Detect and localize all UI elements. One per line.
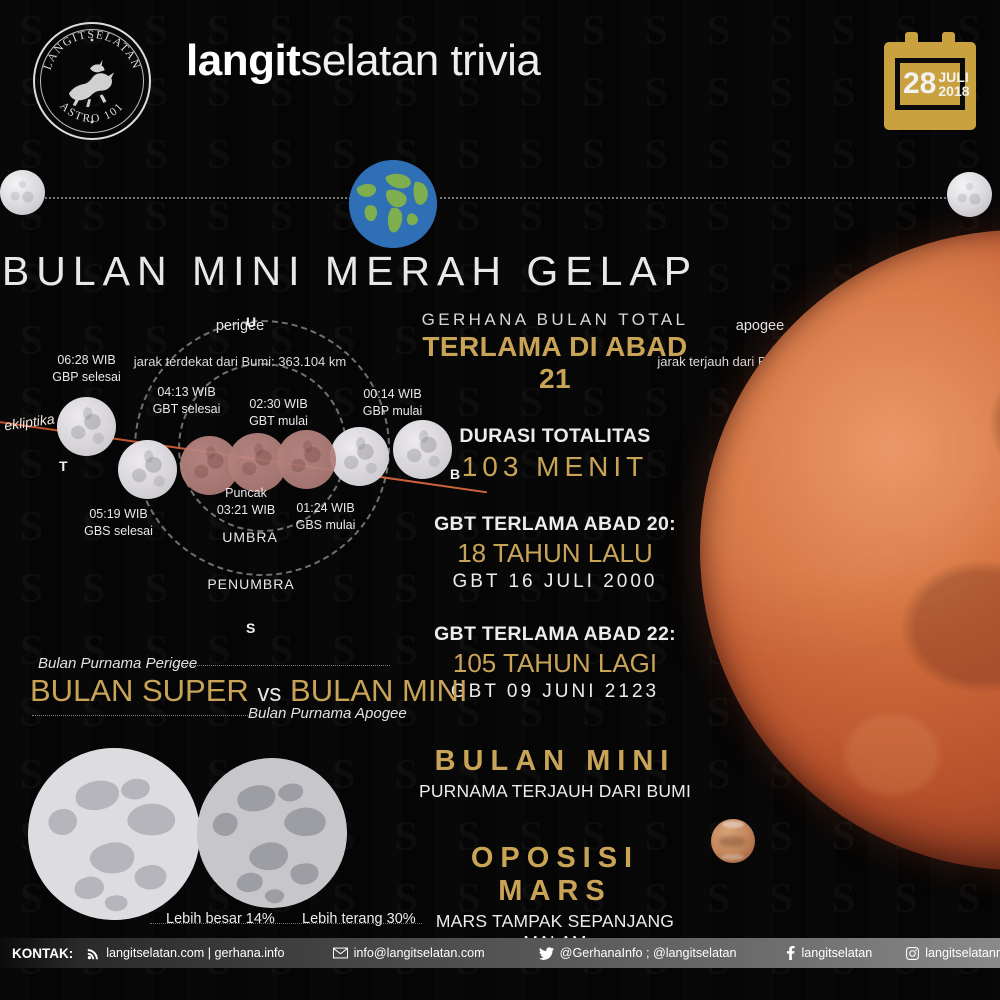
contact-instagram-text: langitselatanmedia (925, 946, 1000, 960)
oposisi-mars-title: OPOSISI MARS (410, 842, 700, 908)
caption-top-dotted-rule (172, 665, 390, 666)
mars-planet-photo (711, 819, 755, 863)
calendar-month-year: JULI 2018 (938, 70, 969, 99)
page-title: BULAN MINI MERAH GELAP (0, 248, 700, 295)
caption-bottom-dotted-rule (32, 715, 252, 716)
compass-marker-north: U (246, 314, 256, 330)
infographic-canvas: SSSSSSSSSSSSSSSSSSSSSSSSSSSSSSSSSSSSSSSS… (0, 0, 1000, 1000)
moon-icon-apogee (947, 172, 992, 217)
fact-duration-head: DURASI TOTALITAS (410, 425, 700, 448)
bulan-mini-sub: PURNAMA TERJAUH DARI BUMI (410, 781, 700, 802)
moon-phase-gbs-mulai (330, 427, 389, 486)
caption-perigee-fullmoon: Bulan Purnama Perigee (38, 655, 197, 672)
fact-century20-value: 18 TAHUN LALU (410, 538, 700, 569)
earth-globe-icon (349, 160, 437, 248)
contact-facebook[interactable]: langitselatan (786, 946, 872, 960)
fact-century20-head: GBT TERLAMA ABAD 20: (410, 513, 700, 536)
brand-trivia: trivia (439, 36, 541, 85)
compass-marker-south: S (246, 620, 255, 636)
contact-email[interactable]: info@langitselatan.com (333, 946, 485, 960)
rss-icon (87, 947, 100, 960)
contact-email-text: info@langitselatan.com (354, 946, 485, 960)
contact-footer-bar: KONTAK: langitselatan.com | gerhana.info… (0, 938, 1000, 968)
compare-title-vs: vs (257, 680, 281, 707)
fact-block-oposisi-mars: OPOSISI MARS MARS TAMPAK SEPANJANG MALAM (410, 842, 700, 953)
contact-twitter-text: @GerhanaInfo ; @langitselatan (560, 946, 737, 960)
contact-instagram[interactable]: langitselatanmedia (906, 946, 1000, 960)
caption-apogee-fullmoon: Bulan Purnama Apogee (248, 705, 407, 722)
fact-block-century20: GBT TERLAMA ABAD 20: 18 TAHUN LALU GBT 1… (410, 513, 700, 593)
contact-twitter[interactable]: @GerhanaInfo ; @langitselatan (539, 946, 737, 960)
facebook-icon (786, 946, 795, 960)
eclipse-path-diagram: U S T B 06:28 WIB GBP selesai 05:19 WIB … (0, 300, 470, 650)
fact-century20-sub: GBT 16 JULI 2000 (410, 571, 700, 593)
brand-selatan: selatan (300, 36, 438, 85)
facts-kicker: GERHANA BULAN TOTAL (410, 310, 700, 330)
contact-label: KONTAK: (12, 946, 73, 961)
contact-facebook-text: langitselatan (801, 946, 872, 960)
mars-south-polar-cap (721, 854, 744, 860)
orbit-dotted-line-right (440, 197, 950, 199)
horse-rider-icon (63, 55, 121, 107)
moon-phase-gbp-selesai (57, 397, 116, 456)
minimoon-disc (197, 758, 347, 908)
mars-dark-albedo-feature (719, 836, 746, 847)
compare-title-left: BULAN SUPER (30, 673, 249, 708)
umbra-label: UMBRA (195, 528, 305, 546)
phase-label-gbt-mulai: 02:30 WIB GBT mulai (216, 396, 341, 429)
brand-langit: langit (186, 36, 300, 85)
compare-title-right: BULAN MINI (290, 673, 467, 708)
compare-title: BULAN SUPER vs BULAN MINI (30, 673, 467, 709)
fact-duration-value: 103 MENIT (410, 451, 700, 483)
moon-phase-gbs-selesai (118, 440, 177, 499)
phase-label-gbp-selesai: 06:28 WIB GBP selesai (24, 352, 149, 385)
fact-block-duration: DURASI TOTALITAS 103 MENIT (410, 425, 700, 483)
compass-marker-west: T (59, 458, 68, 474)
twitter-icon (539, 947, 554, 960)
mars-north-polar-cap (722, 821, 743, 828)
peak-label: Puncak 03:21 WIB (186, 485, 306, 518)
bulan-mini-title: BULAN MINI (410, 745, 700, 778)
date-calendar-icon: 28 JULI 2018 (884, 32, 976, 130)
fact-block-bulan-mini: BULAN MINI PURNAMA TERJAUH DARI BUMI (410, 745, 700, 802)
phase-label-gbs-selesai: 05:19 WIB GBS selesai (56, 506, 181, 539)
stat-size-label: Lebih besar 14% (166, 911, 275, 927)
calendar-date-area: 28 JULI 2018 (900, 63, 960, 105)
calendar-month: JULI (938, 70, 969, 84)
moon-icon-perigee (0, 170, 45, 215)
calendar-year: 2018 (938, 84, 969, 98)
instagram-icon (906, 947, 919, 960)
orbit-distance-strip: perigee jarak terdekat dari Bumi: 363.10… (0, 155, 1000, 250)
header: LANGITSELATAN ASTRO 101 langitselatan tr… (0, 0, 1000, 150)
supermoon-disc (28, 748, 200, 920)
contact-website[interactable]: langitselatan.com | gerhana.info (87, 946, 284, 960)
brand-title: langitselatan trivia (186, 36, 540, 86)
calendar-day: 28 (903, 69, 936, 99)
langitselatan-logo: LANGITSELATAN ASTRO 101 (33, 22, 151, 140)
contact-website-text: langitselatan.com | gerhana.info (106, 946, 284, 960)
facts-headline: TERLAMA DI ABAD 21 (410, 331, 700, 395)
eclipse-facts-column: GERHANA BULAN TOTAL TERLAMA DI ABAD 21 D… (410, 310, 700, 953)
orbit-dotted-line-left (42, 197, 354, 199)
envelope-icon (333, 947, 348, 959)
penumbra-label: PENUMBRA (191, 575, 311, 593)
stat-brightness-label: Lebih terang 30% (302, 911, 416, 927)
fact-century22-head: GBT TERLAMA ABAD 22: (410, 623, 700, 646)
